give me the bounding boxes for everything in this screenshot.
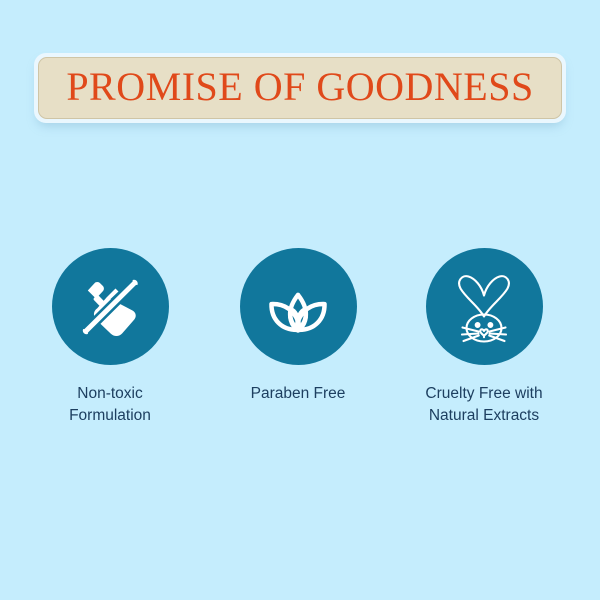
promise-of-goodness-panel: PROMISE OF GOODNESS — [0, 0, 600, 600]
feature-label-non-toxic: Non-toxic Formulation — [69, 383, 151, 427]
feature-label-paraben-free: Paraben Free — [251, 383, 346, 405]
banner: PROMISE OF GOODNESS — [38, 57, 562, 119]
icon-circle-cruelty-free — [426, 248, 543, 365]
feature-label-cruelty-free: Cruelty Free with Natural Extracts — [425, 383, 542, 427]
lotus-flower-icon — [259, 268, 337, 346]
page-title: PROMISE OF GOODNESS — [66, 67, 533, 110]
banner-frame: PROMISE OF GOODNESS — [34, 53, 566, 123]
feature-list: Non-toxic Formulation — [0, 248, 600, 427]
cruelty-free-bunny-icon — [442, 265, 526, 349]
icon-circle-paraben-free — [240, 248, 357, 365]
feature-item-cruelty-free[interactable]: Cruelty Free with Natural Extracts — [384, 248, 584, 427]
icon-circle-non-toxic — [52, 248, 169, 365]
no-toxic-flask-icon — [70, 267, 150, 347]
feature-item-paraben-free[interactable]: Paraben Free — [210, 248, 386, 405]
feature-item-non-toxic[interactable]: Non-toxic Formulation — [10, 248, 210, 427]
